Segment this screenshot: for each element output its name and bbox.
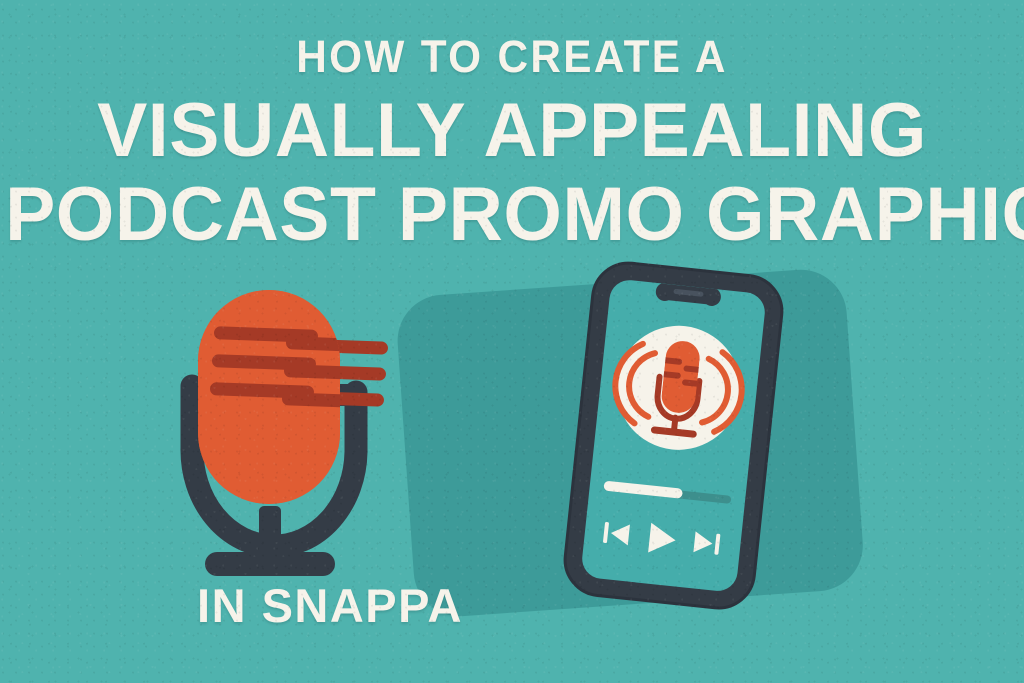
headline-line-3: PODCAST PROMO GRAPHIC: [5, 177, 1019, 253]
mic-base: [205, 552, 335, 576]
smartphone-mockup: [562, 260, 786, 612]
footer-attribution: IN SNAPPA: [0, 582, 660, 629]
headline-line-2: VISUALLY APPEALING: [5, 93, 1019, 169]
podcast-promo-canvas: HOW TO CREATE A VISUALLY APPEALING PODCA…: [0, 0, 1024, 683]
retro-microphone: [186, 290, 390, 576]
headline-block: HOW TO CREATE A VISUALLY APPEALING PODCA…: [0, 34, 1024, 253]
headline-line-1: HOW TO CREATE A: [31, 34, 994, 79]
